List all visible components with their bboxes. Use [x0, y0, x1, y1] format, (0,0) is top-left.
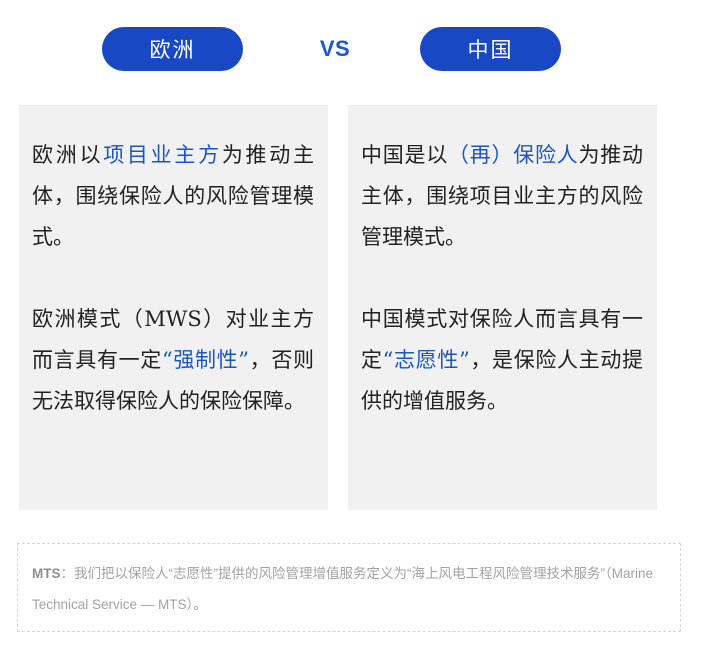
highlighted-term: 项目业主方	[103, 143, 222, 167]
paragraph-text: 中国是以	[361, 143, 448, 167]
footnote-body: ：我们把以保险人“志愿性”提供的风险管理增值服务定义为“海上风电工程风险管理技术…	[32, 566, 653, 612]
highlighted-term: “志愿性”	[383, 348, 470, 372]
panel-paragraph: 中国是以（再）保险人为推动主体，围绕项目业主方的风险管理模式。	[361, 135, 643, 258]
pill-china-label: 中国	[468, 34, 514, 64]
panel-paragraph: 中国模式对保险人而言具有一定“志愿性”，是保险人主动提供的增值服务。	[361, 299, 643, 422]
comparison-header: 欧洲 VS 中国	[0, 27, 713, 71]
pill-europe-label: 欧洲	[150, 34, 196, 64]
panel-europe-paragraphs: 欧洲以项目业主方为推动主体，围绕保险人的风险管理模式。欧洲模式（MWS）对业主方…	[32, 135, 314, 422]
vs-separator-label: VS	[280, 27, 390, 71]
comparison-panels: 欧洲以项目业主方为推动主体，围绕保险人的风险管理模式。欧洲模式（MWS）对业主方…	[19, 105, 657, 510]
panel-paragraph: 欧洲以项目业主方为推动主体，围绕保险人的风险管理模式。	[32, 135, 314, 258]
panel-europe: 欧洲以项目业主方为推动主体，围绕保险人的风险管理模式。欧洲模式（MWS）对业主方…	[19, 105, 328, 510]
footnote-box: MTS：我们把以保险人“志愿性”提供的风险管理增值服务定义为“海上风电工程风险管…	[17, 543, 681, 632]
highlighted-term: “强制性”	[162, 348, 249, 372]
footnote-text: MTS：我们把以保险人“志愿性”提供的风险管理增值服务定义为“海上风电工程风险管…	[32, 558, 664, 620]
pill-china[interactable]: 中国	[420, 27, 561, 71]
panel-china: 中国是以（再）保险人为推动主体，围绕项目业主方的风险管理模式。中国模式对保险人而…	[348, 105, 657, 510]
paragraph-text: 欧洲以	[32, 143, 103, 167]
highlighted-term: （再）保险人	[448, 143, 579, 167]
pill-europe[interactable]: 欧洲	[102, 27, 243, 71]
panel-china-paragraphs: 中国是以（再）保险人为推动主体，围绕项目业主方的风险管理模式。中国模式对保险人而…	[361, 135, 643, 422]
panel-paragraph: 欧洲模式（MWS）对业主方而言具有一定“强制性”，否则无法取得保险人的保险保障。	[32, 299, 314, 422]
footnote-tag: MTS	[32, 566, 61, 581]
